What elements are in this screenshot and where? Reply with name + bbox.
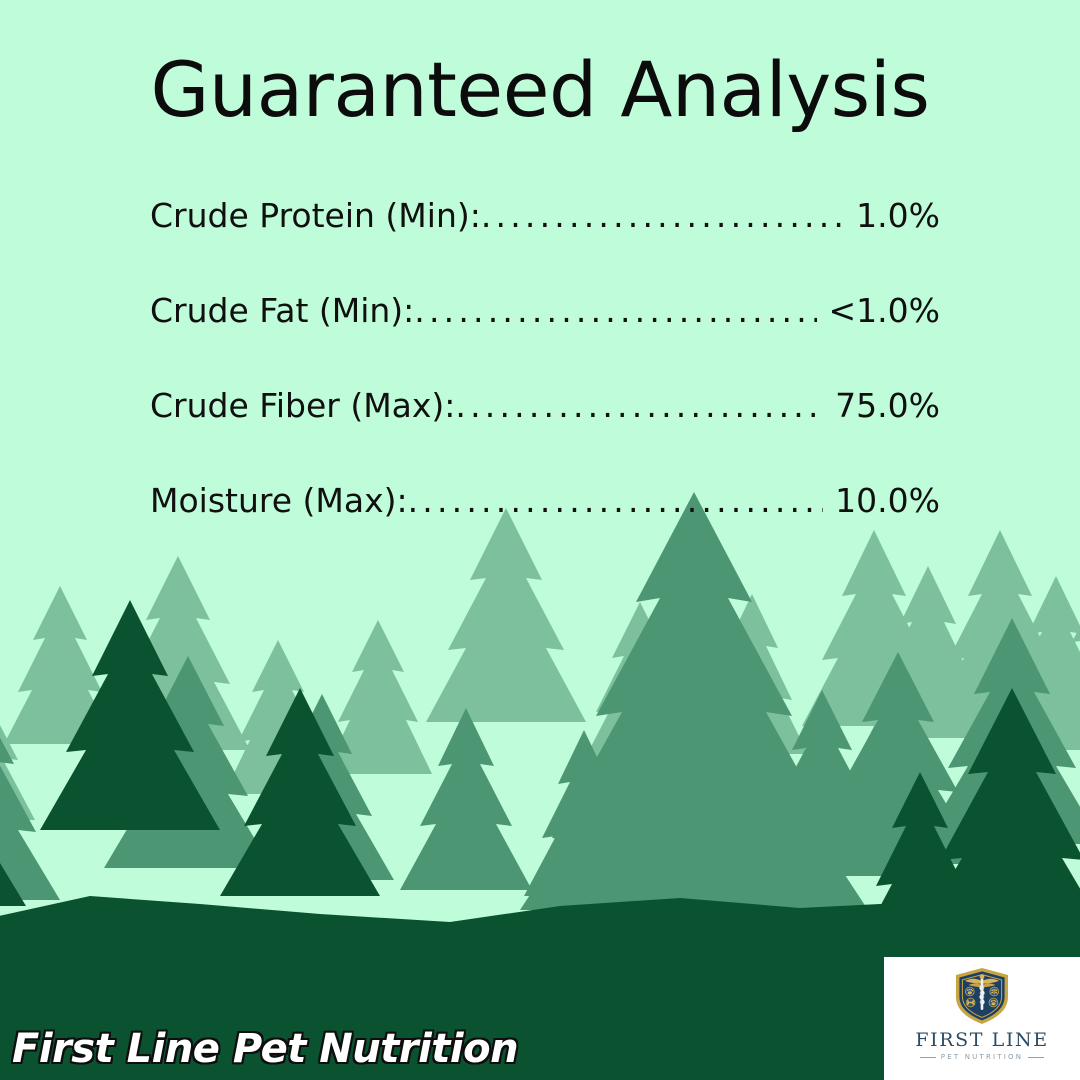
analysis-leader-dots: ........................................… <box>414 291 816 331</box>
page-title: Guaranteed Analysis <box>0 48 1080 132</box>
analysis-label: Moisture (Max): <box>150 481 408 521</box>
shield-caduceus-icon <box>953 966 1011 1026</box>
analysis-row: Crude Fiber (Max): .....................… <box>150 386 940 481</box>
analysis-value: 1.0% <box>846 196 940 236</box>
analysis-value: 10.0% <box>825 481 940 521</box>
tagline-rule-right <box>1028 1057 1044 1058</box>
analysis-leader-dots: ........................................… <box>408 481 824 521</box>
analysis-leader-dots: ........................................… <box>455 386 823 426</box>
analysis-value: 75.0% <box>825 386 940 426</box>
logo-tagline-row: PET NUTRITION <box>920 1053 1044 1062</box>
analysis-label: Crude Fiber (Max): <box>150 386 455 426</box>
analysis-row: Crude Fat (Min): .......................… <box>150 291 940 386</box>
tagline-rule-left <box>920 1057 936 1058</box>
guaranteed-analysis-list: Crude Protein (Min): ...................… <box>150 196 940 576</box>
analysis-label: Crude Protein (Min): <box>150 196 481 236</box>
logo-brand-name: FIRST LINE <box>915 1030 1048 1051</box>
analysis-row: Crude Protein (Min): ...................… <box>150 196 940 291</box>
guaranteed-analysis-poster: Guaranteed Analysis Crude Protein (Min):… <box>0 0 1080 1080</box>
brand-watermark: First Line Pet Nutrition <box>12 1026 518 1072</box>
brand-logo-card: FIRST LINE PET NUTRITION <box>884 957 1080 1080</box>
analysis-leader-dots: ........................................… <box>481 196 844 236</box>
logo-tagline: PET NUTRITION <box>941 1053 1023 1062</box>
analysis-label: Crude Fat (Min): <box>150 291 414 331</box>
analysis-value: <1.0% <box>819 291 941 331</box>
analysis-row: Moisture (Max): ........................… <box>150 481 940 576</box>
